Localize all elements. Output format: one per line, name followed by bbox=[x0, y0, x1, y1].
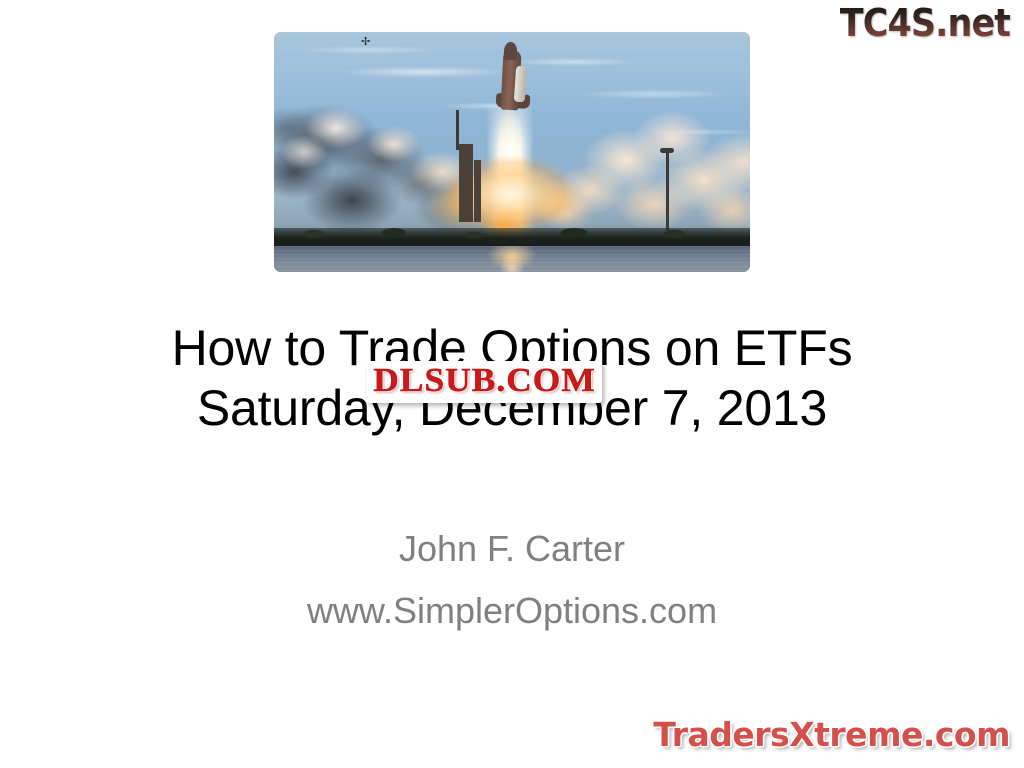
mast-cap-icon bbox=[660, 148, 674, 153]
subtitle-website-url: www.SimplerOptions.com bbox=[62, 580, 962, 642]
rocket-launch-image: ✢ bbox=[274, 32, 750, 272]
lightning-mast-right-icon bbox=[666, 150, 669, 230]
page-subtitle: John F. Carter www.SimplerOptions.com bbox=[62, 518, 962, 642]
watermark-dlsub: DLSUB.COM bbox=[367, 361, 602, 403]
watermark-tc4s: TC4S.net bbox=[840, 3, 1010, 43]
lightning-mast-icon bbox=[456, 110, 459, 150]
launch-tower-icon bbox=[459, 144, 473, 222]
bird-silhouette-icon: ✢ bbox=[361, 38, 371, 47]
watermark-tradersxtreme: TradersXtreme.com bbox=[653, 716, 1010, 754]
subtitle-presenter-name: John F. Carter bbox=[62, 518, 962, 580]
launch-tower-secondary-icon bbox=[474, 160, 481, 222]
shuttle-nose-icon bbox=[504, 42, 518, 61]
presentation-slide: ✢ How to Trade Options on ETFs Saturday,… bbox=[0, 0, 1024, 768]
water-ripples-layer bbox=[274, 246, 750, 272]
